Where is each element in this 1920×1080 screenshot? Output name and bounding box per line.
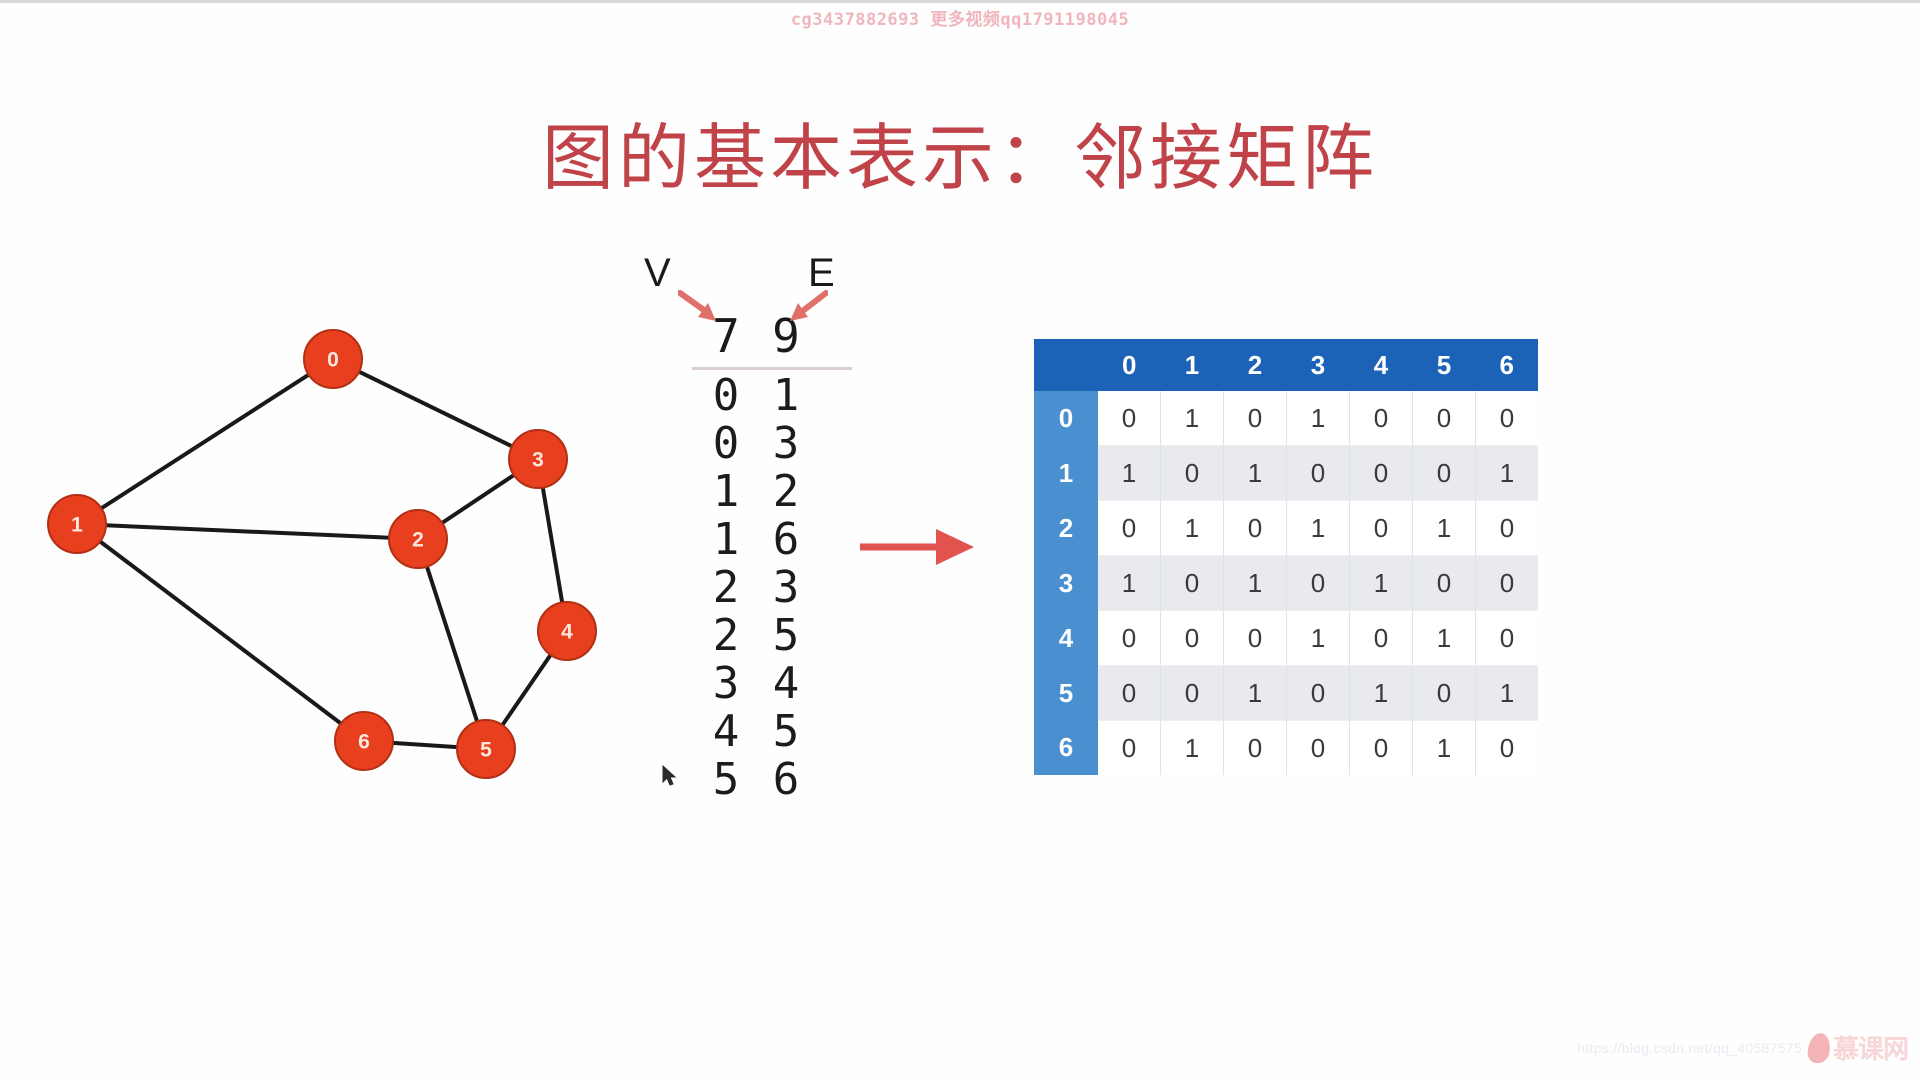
matrix-cell-4-1: 0 xyxy=(1161,611,1224,666)
edge-from-vertex: 5 xyxy=(696,758,756,802)
brand-name: 慕课网 xyxy=(1833,1029,1908,1066)
edge-from-vertex: 1 xyxy=(696,470,756,514)
graph-node-5[interactable]: 5 xyxy=(457,720,515,778)
edge-pair-row: 01 xyxy=(696,374,846,418)
edge-pair-row: 45 xyxy=(696,710,846,754)
matrix-cell-4-0: 0 xyxy=(1098,611,1161,666)
matrix-cell-0-4: 0 xyxy=(1350,391,1413,446)
matrix-cell-5-1: 0 xyxy=(1161,666,1224,721)
matrix-cell-1-3: 0 xyxy=(1287,446,1350,501)
matrix-cell-3-3: 0 xyxy=(1287,556,1350,611)
edge-pairs-list: 010312162325344556 xyxy=(636,374,896,802)
matrix-cell-5-3: 0 xyxy=(1287,666,1350,721)
matrix-cell-0-5: 0 xyxy=(1413,391,1476,446)
matrix-col-header-3: 3 xyxy=(1287,339,1350,391)
edge-from-vertex: 0 xyxy=(696,422,756,466)
graph-node-3[interactable]: 3 xyxy=(509,430,567,488)
matrix-col-header-2: 2 xyxy=(1224,339,1287,391)
matrix-col-header-5: 5 xyxy=(1413,339,1476,391)
matrix-cell-1-0: 1 xyxy=(1098,446,1161,501)
matrix-row-header-1: 1 xyxy=(1034,446,1098,501)
matrix-cell-5-6: 1 xyxy=(1476,666,1539,721)
edge-from-vertex: 4 xyxy=(696,710,756,754)
matrix-row: 20101010 xyxy=(1034,501,1538,556)
watermark-url: https://blog.csdn.net/qq_40587575 xyxy=(1577,1040,1802,1056)
edge-from-vertex: 2 xyxy=(696,566,756,610)
edge-to-vertex: 5 xyxy=(756,710,816,754)
matrix-cell-2-4: 0 xyxy=(1350,501,1413,556)
matrix-cell-0-0: 0 xyxy=(1098,391,1161,446)
matrix-cell-6-3: 0 xyxy=(1287,721,1350,776)
matrix-row: 31010100 xyxy=(1034,556,1538,611)
edge-pair-row: 34 xyxy=(696,662,846,706)
matrix-cell-2-1: 1 xyxy=(1161,501,1224,556)
node-label-2: 2 xyxy=(412,529,424,552)
vertex-pointer-arrow-icon xyxy=(678,289,724,328)
matrix-cell-4-3: 1 xyxy=(1287,611,1350,666)
matrix-row-header-3: 3 xyxy=(1034,556,1098,611)
matrix-row: 00101000 xyxy=(1034,391,1538,446)
graph-node-1[interactable]: 1 xyxy=(48,495,106,553)
graph-edge-0-1 xyxy=(77,359,333,524)
matrix-cell-2-6: 0 xyxy=(1476,501,1539,556)
matrix-row-header-4: 4 xyxy=(1034,611,1098,666)
matrix-row-header-5: 5 xyxy=(1034,666,1098,721)
edge-pair-row: 03 xyxy=(696,422,846,466)
matrix-cell-1-6: 1 xyxy=(1476,446,1539,501)
matrix-cell-2-2: 0 xyxy=(1224,501,1287,556)
matrix-cell-3-1: 0 xyxy=(1161,556,1224,611)
matrix-cell-3-0: 1 xyxy=(1098,556,1161,611)
graph-edge-1-6 xyxy=(77,524,364,741)
graph-diagram: 0123456 xyxy=(0,303,720,863)
matrix-cell-6-1: 1 xyxy=(1161,721,1224,776)
graph-node-0[interactable]: 0 xyxy=(304,330,362,388)
edge-to-vertex: 4 xyxy=(756,662,816,706)
matrix-cell-2-3: 1 xyxy=(1287,501,1350,556)
edge-pair-row: 16 xyxy=(696,518,846,562)
matrix-cell-6-5: 1 xyxy=(1413,721,1476,776)
matrix-cell-6-2: 0 xyxy=(1224,721,1287,776)
matrix-row: 60100010 xyxy=(1034,721,1538,776)
matrix-col-header-4: 4 xyxy=(1350,339,1413,391)
edge-from-vertex: 3 xyxy=(696,662,756,706)
matrix-cell-2-5: 1 xyxy=(1413,501,1476,556)
matrix-cell-4-2: 0 xyxy=(1224,611,1287,666)
matrix-cell-4-6: 0 xyxy=(1476,611,1539,666)
node-label-0: 0 xyxy=(327,349,339,372)
matrix-cell-1-4: 0 xyxy=(1350,446,1413,501)
edge-pair-row: 12 xyxy=(696,470,846,514)
graph-node-4[interactable]: 4 xyxy=(538,602,596,660)
matrix-cell-3-6: 0 xyxy=(1476,556,1539,611)
node-label-6: 6 xyxy=(358,731,370,754)
matrix-cell-4-4: 0 xyxy=(1350,611,1413,666)
matrix-cell-0-6: 0 xyxy=(1476,391,1539,446)
node-label-5: 5 xyxy=(480,739,492,762)
edge-to-vertex: 3 xyxy=(756,422,816,466)
matrix-col-header-1: 1 xyxy=(1161,339,1224,391)
edge-to-vertex: 6 xyxy=(756,518,816,562)
matrix-cell-3-2: 1 xyxy=(1224,556,1287,611)
edge-pair-row: 23 xyxy=(696,566,846,610)
edge-to-vertex: 3 xyxy=(756,566,816,610)
page-title: 图的基本表示：邻接矩阵 xyxy=(0,99,1920,204)
adjacency-matrix-table: 0123456 00101000110100012010101031010100… xyxy=(1034,339,1538,775)
graph-node-2[interactable]: 2 xyxy=(389,510,447,568)
matrix-cell-5-0: 0 xyxy=(1098,666,1161,721)
graph-node-6[interactable]: 6 xyxy=(335,712,393,770)
matrix-cell-5-5: 0 xyxy=(1413,666,1476,721)
edge-from-vertex: 2 xyxy=(696,614,756,658)
matrix-row: 40001010 xyxy=(1034,611,1538,666)
edge-to-vertex: 5 xyxy=(756,614,816,658)
matrix-col-header-6: 6 xyxy=(1476,339,1539,391)
matrix-cell-3-4: 1 xyxy=(1350,556,1413,611)
node-label-3: 3 xyxy=(532,449,544,472)
edge-pair-row: 56 xyxy=(696,758,846,802)
matrix-row: 50010101 xyxy=(1034,666,1538,721)
edge-pointer-arrow-icon xyxy=(782,289,828,328)
matrix-corner-cell xyxy=(1034,339,1098,391)
matrix-cell-4-5: 1 xyxy=(1413,611,1476,666)
slide-canvas: cg3437882693 更多视频qq1791198045 图的基本表示：邻接矩… xyxy=(0,0,1920,1080)
edge-from-vertex: 1 xyxy=(696,518,756,562)
matrix-row-header-0: 0 xyxy=(1034,391,1098,446)
matrix-body: 0010100011010001201010103101010040001010… xyxy=(1034,391,1538,775)
matrix-cell-2-0: 0 xyxy=(1098,501,1161,556)
matrix-cell-0-3: 1 xyxy=(1287,391,1350,446)
matrix-cell-6-6: 0 xyxy=(1476,721,1539,776)
matrix-row-header-2: 2 xyxy=(1034,501,1098,556)
matrix-cell-6-0: 0 xyxy=(1098,721,1161,776)
matrix-cell-0-2: 0 xyxy=(1224,391,1287,446)
matrix-cell-1-1: 0 xyxy=(1161,446,1224,501)
matrix-cell-5-2: 1 xyxy=(1224,666,1287,721)
matrix-cell-6-4: 0 xyxy=(1350,721,1413,776)
graph-edge-2-5 xyxy=(418,539,486,749)
graph-edge-1-2 xyxy=(77,524,418,539)
matrix-cell-0-1: 1 xyxy=(1161,391,1224,446)
matrix-column-headers: 0123456 xyxy=(1034,339,1538,391)
bottom-watermark: https://blog.csdn.net/qq_40587575 慕课网 xyxy=(1577,1029,1908,1066)
edge-from-vertex: 0 xyxy=(696,374,756,418)
matrix-cell-1-2: 1 xyxy=(1224,446,1287,501)
vertex-count-label: V xyxy=(644,251,671,296)
matrix-row: 11010001 xyxy=(1034,446,1538,501)
matrix-row-header-6: 6 xyxy=(1034,721,1098,776)
graph-edges xyxy=(77,359,567,749)
edge-pair-row: 25 xyxy=(696,614,846,658)
matrix-cell-1-5: 0 xyxy=(1413,446,1476,501)
brand-logo: 慕课网 xyxy=(1808,1029,1908,1066)
graph-edge-0-3 xyxy=(333,359,538,459)
edge-to-vertex: 2 xyxy=(756,470,816,514)
node-label-4: 4 xyxy=(561,621,573,644)
ve-header: V E xyxy=(636,251,896,303)
transform-arrow-icon xyxy=(858,523,978,576)
matrix-cell-3-5: 0 xyxy=(1413,556,1476,611)
edge-to-vertex: 6 xyxy=(756,758,816,802)
matrix-col-header-0: 0 xyxy=(1098,339,1161,391)
top-watermark: cg3437882693 更多视频qq1791198045 xyxy=(0,5,1920,30)
edge-list-panel: V E 7 9 010312162325344556 xyxy=(636,251,896,806)
node-label-1: 1 xyxy=(71,514,83,537)
edge-to-vertex: 1 xyxy=(756,374,816,418)
matrix-header-row: 0123456 xyxy=(1034,339,1538,391)
matrix-cell-5-4: 1 xyxy=(1350,666,1413,721)
flame-icon xyxy=(1806,1033,1831,1063)
